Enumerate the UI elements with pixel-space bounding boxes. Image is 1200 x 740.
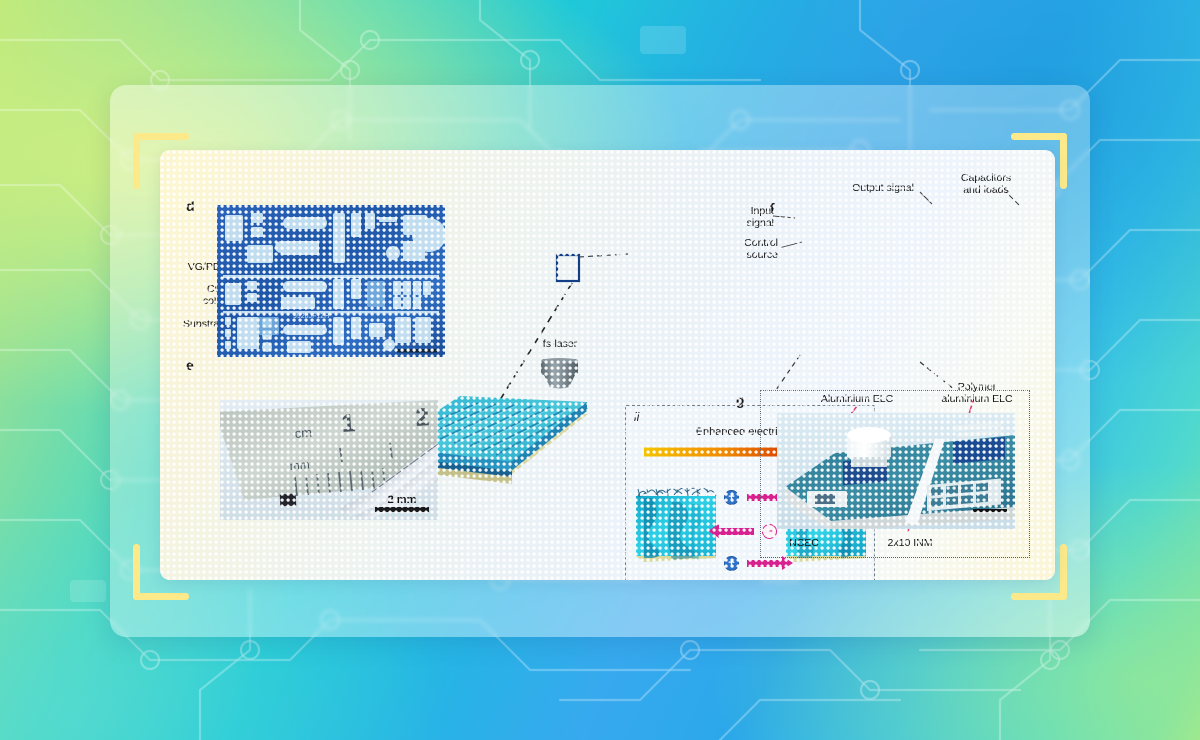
ion-arrow-right-bottom bbox=[747, 560, 783, 567]
panel-g-box: Aluminium ELC Polymer aluminium ELC NCEC… bbox=[760, 390, 1030, 558]
label-ncec: NCEC bbox=[767, 537, 841, 549]
panel-g-device-photo bbox=[777, 413, 1015, 529]
label-output-signal: Output signal bbox=[842, 182, 924, 194]
svg-text:cm: cm bbox=[294, 425, 312, 441]
device-board-image bbox=[777, 413, 1015, 529]
fs-laser-label: fs-laser bbox=[529, 338, 591, 350]
panel-f-pcb-photo: 9920JF12H bbox=[217, 205, 445, 357]
scale-bar-e-line bbox=[375, 507, 429, 512]
pcb-silkscreen-text: 9920JF12H bbox=[293, 313, 329, 320]
ion-positive-icon: + bbox=[724, 490, 739, 505]
panel-label-d: d bbox=[186, 198, 195, 214]
svg-text:mm: mm bbox=[289, 458, 310, 473]
label-control-source: Control source bbox=[696, 237, 778, 261]
svg-text:1: 1 bbox=[340, 409, 356, 438]
label-capacitors-and-loads: Capacitors and loads bbox=[950, 172, 1022, 196]
label-polymer-aluminium-elc: Polymer aluminium ELC bbox=[929, 381, 1025, 405]
label-aluminium-elc: Aluminium ELC bbox=[809, 393, 905, 405]
svg-text:2: 2 bbox=[414, 403, 430, 432]
ion-positive-icon-2: + bbox=[724, 556, 739, 571]
panel-label-g: g bbox=[736, 392, 745, 408]
panel-label-d-ii: ii bbox=[634, 410, 639, 424]
ion-arrow-left bbox=[718, 528, 754, 535]
scale-bar-e: 2 mm bbox=[375, 494, 429, 512]
label-input-signal: Input signal bbox=[704, 205, 774, 229]
ion-row-positive-bottom: + bbox=[724, 556, 783, 571]
panel-label-e: e bbox=[186, 357, 194, 373]
scale-bar-e-label: 2 mm bbox=[375, 494, 429, 506]
label-2x10-inm: 2x10 INM bbox=[867, 537, 953, 549]
pcb-image: 9920JF12H bbox=[217, 205, 445, 357]
scientific-figure-panel: d i fs-laser VG/PEDOT Current collector … bbox=[160, 150, 1055, 580]
panel-e-ruler-photo: cm 1 2 mm 2 mm bbox=[220, 400, 438, 520]
electrode-microstructure-left bbox=[634, 484, 718, 564]
